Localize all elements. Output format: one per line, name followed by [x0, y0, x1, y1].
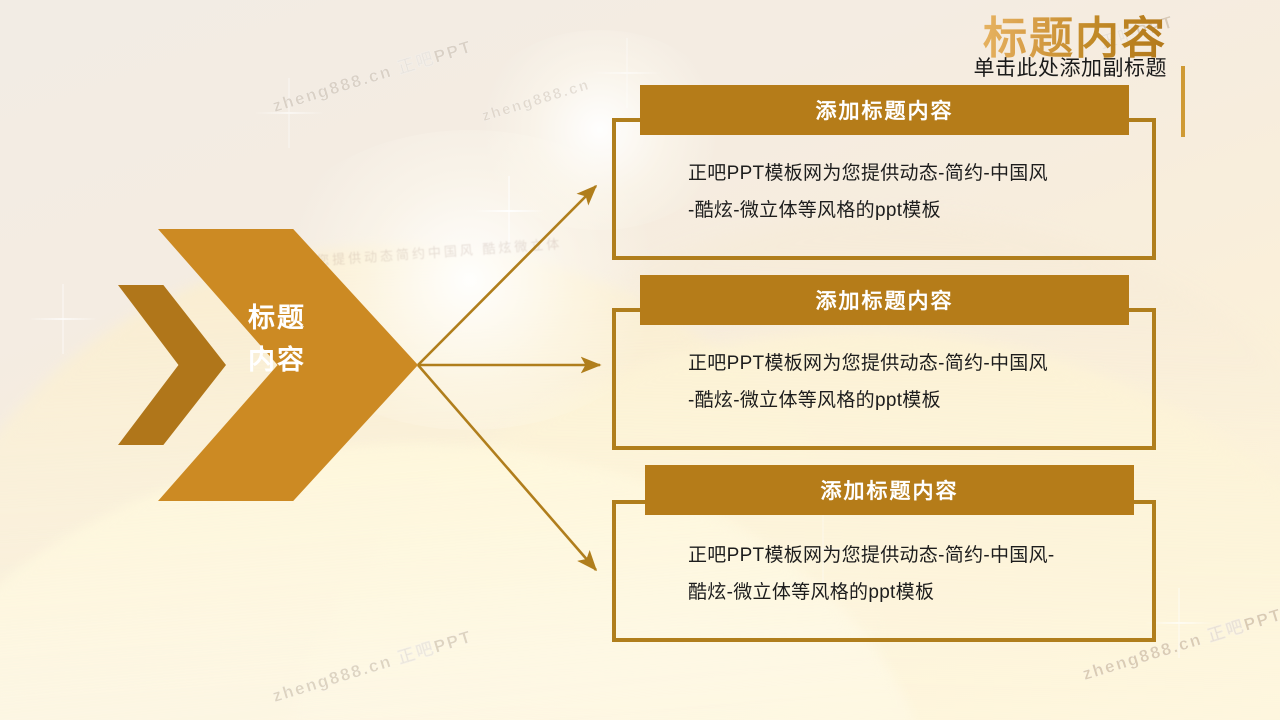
card-3-body-line2: 酷炫-微立体等风格的ppt模板 [688, 574, 1128, 611]
arrow-to-card-3 [418, 365, 596, 570]
card-2-body: 正吧PPT模板网为您提供动态-简约-中国风 -酷炫-微立体等风格的ppt模板 [688, 345, 1118, 419]
card-1-header[interactable]: 添加标题内容 [640, 85, 1129, 135]
card-1-body-line2: -酷炫-微立体等风格的ppt模板 [688, 192, 1118, 229]
card-1-body-line1: 正吧PPT模板网为您提供动态-简约-中国风 [688, 155, 1118, 192]
card-1-body: 正吧PPT模板网为您提供动态-简约-中国风 -酷炫-微立体等风格的ppt模板 [688, 155, 1118, 229]
card-2-header[interactable]: 添加标题内容 [640, 275, 1129, 325]
card-3-body-line1: 正吧PPT模板网为您提供动态-简约-中国风- [688, 537, 1128, 574]
arrow-to-card-1 [418, 186, 596, 365]
slide-canvas: 为您提供动态简约中国风 酷炫微立体 zheng888.cn 正吧PPT zhen… [0, 0, 1280, 720]
card-3-body: 正吧PPT模板网为您提供动态-简约-中国风- 酷炫-微立体等风格的ppt模板 [688, 537, 1128, 611]
card-2-body-line2: -酷炫-微立体等风格的ppt模板 [688, 382, 1118, 419]
card-2-body-line1: 正吧PPT模板网为您提供动态-简约-中国风 [688, 345, 1118, 382]
card-3-header[interactable]: 添加标题内容 [645, 465, 1134, 515]
